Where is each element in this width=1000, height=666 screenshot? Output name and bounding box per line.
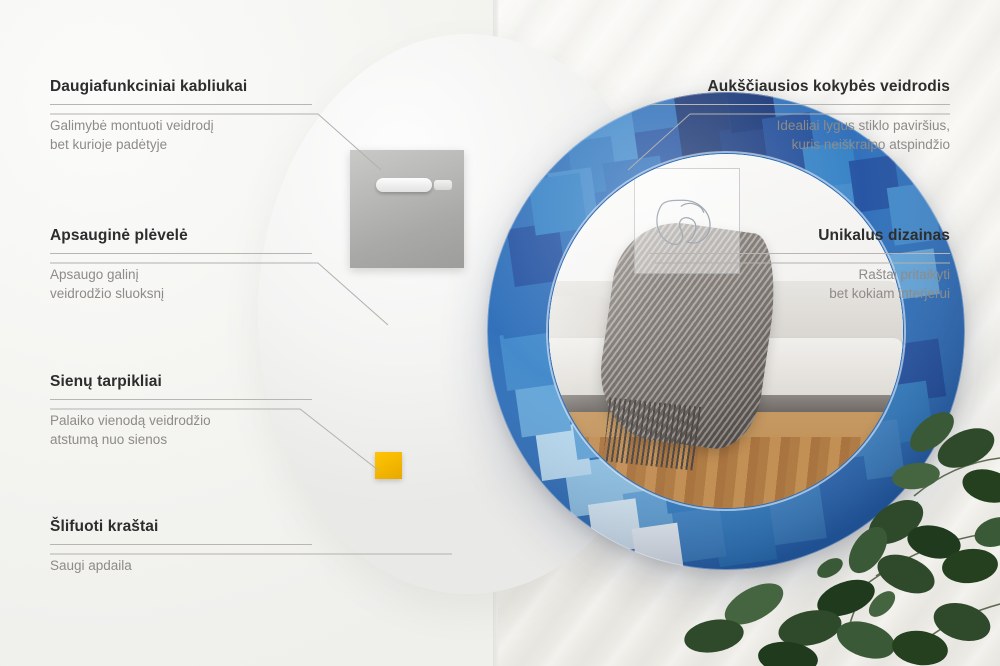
eucalyptus-foliage <box>670 336 1000 666</box>
callout-title: Aukščiausios kokybės veidrodis <box>650 78 950 96</box>
callout-desc: Palaiko vienodą veidrodžio atstumą nuo s… <box>50 411 312 449</box>
callout-desc: Galimybė montuoti veidrodį bet kurioje p… <box>50 116 312 154</box>
callout-desc: Saugi apdaila <box>50 556 312 575</box>
callout-polished-edges: Šlifuoti kraštai Saugi apdaila <box>50 518 312 575</box>
callout-desc: Apsaugo galinį veidrodžio sluoksnį <box>50 265 312 303</box>
hook-slot-secondary <box>434 180 452 190</box>
callout-desc: Idealiai lygus stiklo paviršius, kuris n… <box>650 116 950 154</box>
hanging-hook-plate <box>350 150 464 268</box>
callout-desc: Raštai pritaikyti bet kokiam interjerui <box>650 265 950 303</box>
callout-title: Apsauginė plėvelė <box>50 227 312 245</box>
callout-top-quality-mirror: Aukščiausios kokybės veidrodis Idealiai … <box>650 78 950 154</box>
callout-wall-spacers: Sienų tarpikliai Palaiko vienodą veidrod… <box>50 373 312 449</box>
hook-slot <box>376 178 432 192</box>
callout-title: Unikalus dizainas <box>650 227 950 245</box>
foliage-leaves <box>682 405 1000 666</box>
callout-rule <box>50 253 312 254</box>
callout-rule <box>50 399 312 400</box>
callout-rule <box>650 104 950 105</box>
callout-protective-film: Apsauginė plėvelė Apsaugo galinį veidrod… <box>50 227 312 303</box>
callout-unique-design: Unikalus dizainas Raštai pritaikyti bet … <box>650 227 950 303</box>
callout-title: Daugiafunkciniai kabliukai <box>50 78 312 96</box>
callout-title: Šlifuoti kraštai <box>50 518 312 536</box>
callout-title: Sienų tarpikliai <box>50 373 312 391</box>
callout-rule <box>50 104 312 105</box>
callout-multifunctional-hooks: Daugiafunkciniai kabliukai Galimybė mont… <box>50 78 312 154</box>
wall-spacer-pad <box>375 452 402 479</box>
infographic-stage: Daugiafunkciniai kabliukai Galimybė mont… <box>0 0 1000 666</box>
callout-rule <box>50 544 312 545</box>
callout-rule <box>650 253 950 254</box>
